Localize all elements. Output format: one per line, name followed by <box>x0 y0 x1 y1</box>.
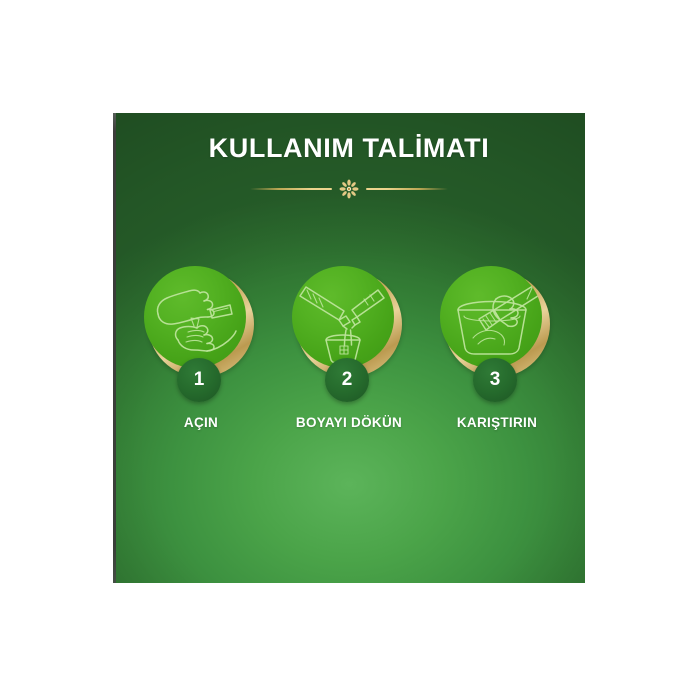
steps-row: 1 AÇIN <box>113 265 585 495</box>
step-item: 1 AÇIN <box>139 265 263 495</box>
tubes-pouring-into-bowl-icon <box>292 266 394 368</box>
step-number-badge: 2 <box>325 358 369 402</box>
divider-rule-right <box>366 188 448 190</box>
step-number-badge: 3 <box>473 358 517 402</box>
step-number-badge: 1 <box>177 358 221 402</box>
image-canvas: KULLANIM TALİMATI <box>0 0 700 700</box>
hands-opening-sachet-icon <box>144 266 246 368</box>
page-title: KULLANIM TALİMATI <box>113 133 585 164</box>
instruction-panel: KULLANIM TALİMATI <box>113 113 585 583</box>
step-label: KARIŞTIRIN <box>419 415 575 430</box>
step-label: BOYAYI DÖKÜN <box>271 415 427 430</box>
step-item: 3 KARIŞTIRIN <box>435 265 559 495</box>
divider-rule-left <box>250 188 332 190</box>
brush-mixing-in-bowl-icon <box>440 266 542 368</box>
step-label: AÇIN <box>123 415 279 430</box>
panel-left-edge-rail <box>113 113 116 583</box>
flower-ornament-icon <box>339 179 359 199</box>
divider <box>113 178 585 200</box>
step-item: 2 BOYAYI DÖKÜN <box>287 265 411 495</box>
